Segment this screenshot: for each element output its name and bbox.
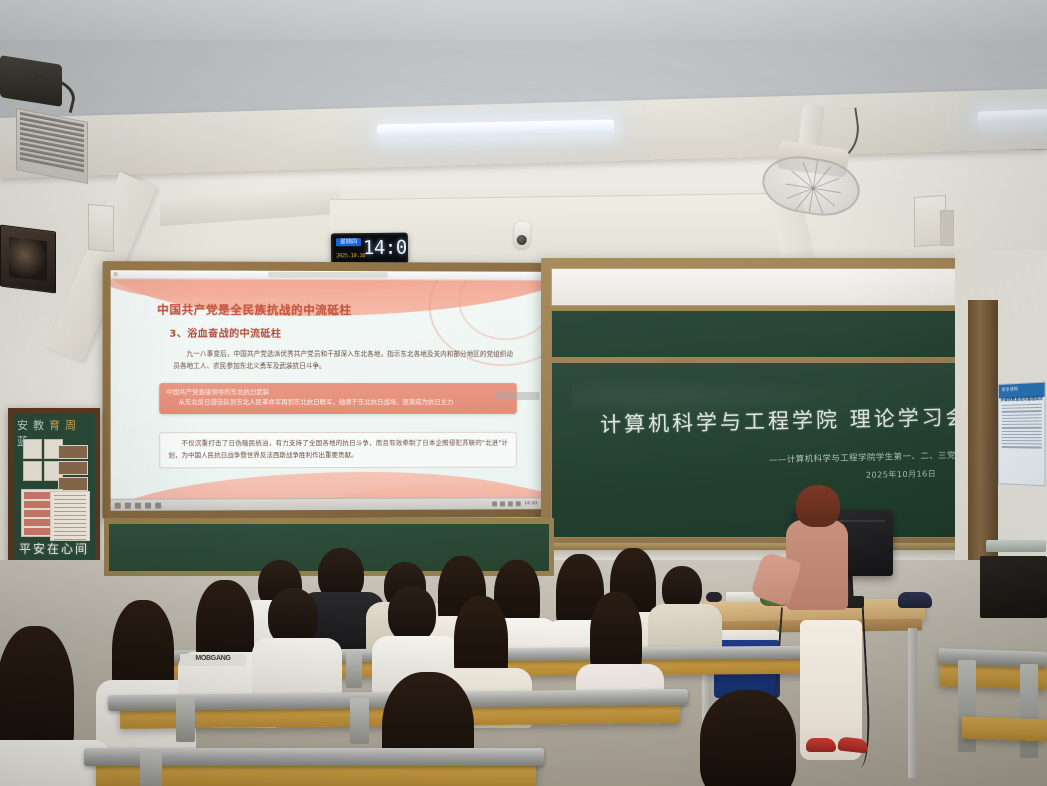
light-box-body: 不仅沉重打击了日伪殖民统治，有力支持了全国各地的抗日斗争，而且有效牵制了日本企图… xyxy=(168,438,508,462)
equipment-cabinet xyxy=(980,556,1047,618)
blackboard-frame: 计算机科学与工程学院 理论学习会 ——计算机科学与工程学院学生第一、二、三党支部… xyxy=(541,258,1009,548)
slide-canvas: 中国共产党是全民族抗战的中流砥柱 3、浴血奋战的中流砥柱 九一八事变后，中国共产… xyxy=(111,279,542,498)
right-door-frame xyxy=(968,300,998,570)
taskbar-start-icon[interactable] xyxy=(115,502,121,508)
bulletin-illustration-grid xyxy=(23,439,63,481)
tray-ime-icon[interactable] xyxy=(516,501,521,506)
bulletin-board: 安教育周蓝 平安在心间 xyxy=(8,408,100,566)
wall-notice-poster: 安全须知 多媒体教室使用管理规定 xyxy=(998,382,1046,487)
student-head xyxy=(700,690,796,786)
podium-leg-right xyxy=(908,628,917,778)
slide-highlight-box: 中国共产党直接领导的东北抗日武装 从东北反日游击队到东北人民革命军再到东北抗日联… xyxy=(159,383,517,414)
tray-volume-icon[interactable] xyxy=(500,501,505,506)
fluorescent-tube-light-2 xyxy=(978,108,1047,123)
taskbar-app-icons[interactable] xyxy=(115,502,162,508)
tshirt-graphic-text: MOBGANG xyxy=(180,654,246,666)
clock-left-panel: 星期四 2025.10.16 xyxy=(333,235,363,262)
presenter-shoe-left xyxy=(806,738,836,752)
projection-screen[interactable]: 中国共产党是全民族抗战的中流砥柱 3、浴血奋战的中流砥柱 九一八事变后，中国共产… xyxy=(111,270,542,511)
presenter-head xyxy=(796,485,840,527)
highlight-box-heading: 中国共产党直接领导的东北抗日武装 xyxy=(166,387,510,397)
blackboard-date: 2025年10月16日 xyxy=(866,468,936,480)
floating-toolbar-chip[interactable] xyxy=(496,392,539,400)
desk-post xyxy=(346,650,362,688)
bulletin-illustration-1 xyxy=(23,439,42,459)
blackboard-main-panel: 计算机科学与工程学院 理论学习会 ——计算机科学与工程学院学生第一、二、三党支部… xyxy=(551,362,999,538)
desk-row xyxy=(962,717,1047,742)
desk-bag xyxy=(898,592,932,608)
blackboard-subline: ——计算机科学与工程学院学生第一、二、三党支部 xyxy=(769,449,974,466)
taskbar-clock: 14:03 xyxy=(524,501,537,506)
bulletin-photo-1 xyxy=(58,445,88,459)
desk-post xyxy=(1020,664,1038,758)
clock-weekday: 星期四 xyxy=(336,238,361,246)
cabinet-top-papers xyxy=(986,540,1046,552)
taskbar-folder-icon[interactable] xyxy=(135,502,141,508)
chalk-tray xyxy=(546,543,1004,550)
taskbar-ppt-icon[interactable] xyxy=(145,502,151,508)
classroom-scene: 星期四 2025.10.16 14:03 ℃ 中国共产党是全民族抗战的中流砥柱 … xyxy=(0,0,1047,786)
bulletin-photo-strip xyxy=(58,445,88,493)
bulletin-footer: 平安在心间 xyxy=(15,540,93,557)
bulletin-title-mid: 育周 xyxy=(49,419,81,432)
bulletin-illustration-3 xyxy=(23,461,42,481)
tray-network-icon[interactable] xyxy=(493,501,498,506)
window-icon xyxy=(114,272,118,276)
bulletin-title-left: 安教 xyxy=(17,419,49,432)
clock-date: 2025.10.16 xyxy=(336,253,361,260)
slide-subtitle: 3、浴血奋战的中流砥柱 xyxy=(169,325,281,340)
tray-battery-icon[interactable] xyxy=(508,501,513,506)
bulletin-text-notice xyxy=(50,491,90,541)
desk-post xyxy=(140,752,162,786)
desk-post xyxy=(176,696,195,742)
os-taskbar[interactable]: 14:03 xyxy=(111,497,542,511)
blackboard-headline: 计算机科学与工程学院 理论学习会 xyxy=(600,401,970,439)
student-head xyxy=(388,586,436,642)
highlight-box-body: 从东北反日游击队到东北人民革命军再到东北抗日联军，驰骋于东北抗日战场，逐渐成为抗… xyxy=(166,397,510,408)
projection-screen-frame: 中国共产党是全民族抗战的中流砥柱 3、浴血奋战的中流砥柱 九一八事变后，中国共产… xyxy=(103,261,550,519)
slide-decor-wave-bottom xyxy=(111,471,542,498)
student-torso xyxy=(252,638,342,698)
window-title-chip xyxy=(267,272,387,278)
slide-paragraph: 九一八事变后，中国共产党选派优秀共产党员和干部深入东北各地，指示东北各地及关内和… xyxy=(173,348,513,372)
blackboard-upper-panel xyxy=(551,310,999,358)
whiteboard-strip xyxy=(551,268,999,306)
desk-post xyxy=(350,698,369,744)
bulletin-photo-2 xyxy=(58,461,88,475)
digital-wall-clock: 星期四 2025.10.16 14:03 ℃ xyxy=(331,233,408,265)
slide-title: 中国共产党是全民族抗战的中流砥柱 xyxy=(157,302,351,319)
poster-title: 多媒体教室使用管理规定 xyxy=(999,393,1045,403)
clock-time: 14:03 xyxy=(363,238,408,258)
ceiling-far-section xyxy=(0,0,1047,40)
speaker-icon xyxy=(0,225,56,294)
taskbar-tray[interactable]: 14:03 xyxy=(493,501,538,506)
taskbar-misc-icon[interactable] xyxy=(155,502,161,508)
slide-light-box: 不仅沉重打击了日伪殖民统治，有力支持了全国各地的抗日斗争，而且有效牵制了日本企图… xyxy=(159,432,517,469)
security-camera-icon xyxy=(513,222,530,249)
wall-switch-right[interactable] xyxy=(940,210,954,246)
wall-box-left xyxy=(88,204,114,252)
computer-mouse[interactable] xyxy=(706,592,722,602)
taskbar-browser-icon[interactable] xyxy=(125,502,131,508)
